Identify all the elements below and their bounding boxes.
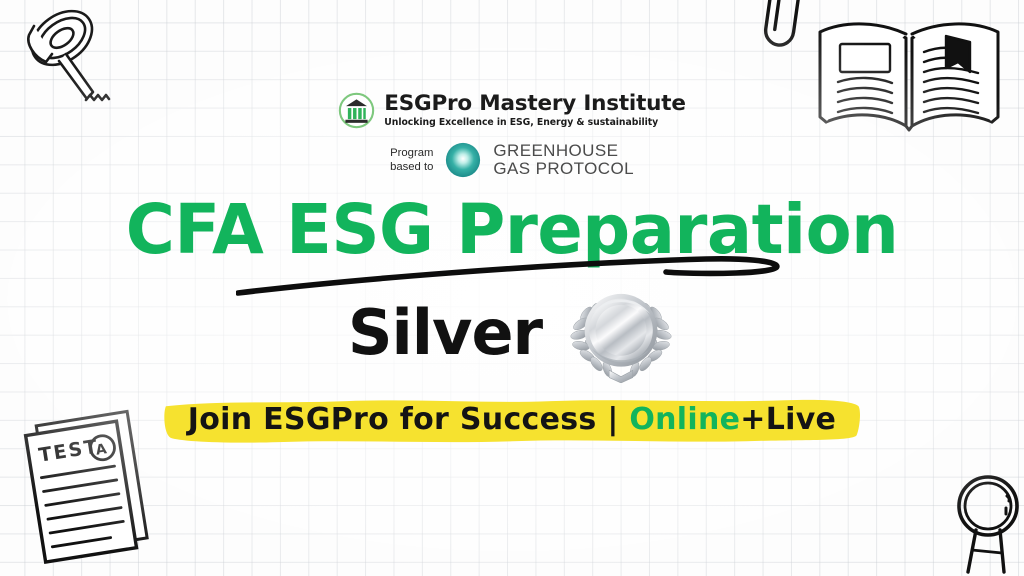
ghg-wordmark: GREENHOUSE GAS PROTOCOL <box>493 142 634 179</box>
tier-label: Silver <box>348 302 542 364</box>
paperclip-doodle <box>744 0 814 60</box>
headline-wrap: CFA ESG Preparation <box>0 196 1024 265</box>
silver-laurel-medal-icon <box>566 283 676 383</box>
brand-header: ESGPro Mastery Institute Unlocking Excel… <box>0 92 1024 179</box>
cta-banner[interactable]: Join ESGPro for Success | Online+Live <box>162 396 862 446</box>
partner-prefix: Program based to <box>390 146 433 174</box>
ghg-wordmark-line1: GREENHOUSE <box>493 142 634 160</box>
greenhouse-gas-protocol-icon <box>444 141 482 179</box>
cta-trail: +Live <box>740 402 836 437</box>
brand-row: ESGPro Mastery Institute Unlocking Excel… <box>338 92 686 129</box>
partner-prefix-line1: Program <box>390 146 433 160</box>
institute-building-icon <box>338 92 375 129</box>
magnifying-glass-doodle <box>946 472 1024 576</box>
ghg-wordmark-line2: GAS PROTOCOL <box>493 160 634 178</box>
brand-names: ESGPro Mastery Institute Unlocking Excel… <box>384 93 686 129</box>
poster-canvas: TEST A <box>0 0 1024 576</box>
partner-row: Program based to GREENHOUSE GAS PROTOCOL <box>390 141 634 179</box>
tier-row: Silver <box>0 283 1024 383</box>
page-title: CFA ESG Preparation <box>15 196 1008 265</box>
brand-tagline: Unlocking Excellence in ESG, Energy & su… <box>384 117 658 128</box>
cta-lead: Join ESGPro for Success | <box>188 402 630 437</box>
cta-accent: Online <box>629 402 740 437</box>
brand-title: ESGPro Mastery Institute <box>384 93 686 116</box>
cta-wrap: Join ESGPro for Success | Online+Live <box>0 396 1024 446</box>
partner-prefix-line2: based to <box>390 160 433 174</box>
cta-text: Join ESGPro for Success | Online+Live <box>188 404 836 436</box>
